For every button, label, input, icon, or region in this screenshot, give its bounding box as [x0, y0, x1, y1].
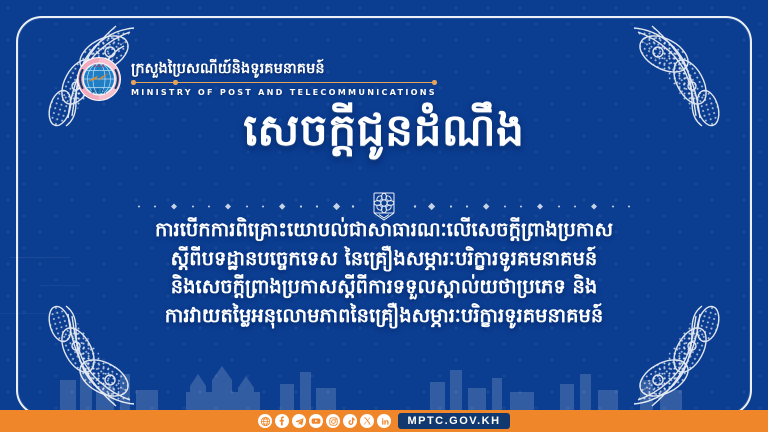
gold-rule-dot-mid — [173, 80, 178, 85]
divider-right-dots — [407, 201, 637, 212]
announcement-poster: ប.ប.ក P.T.C. ក្រសួងប្រៃសណីយ៍និងទូរគមនាគម… — [0, 0, 768, 432]
announcement-body: ការបើកការពិគ្រោះយោបល់ជាសាធារណៈលើសេចក្តីព… — [34, 216, 734, 330]
skyline-silhouette — [0, 340, 768, 410]
globe-icon[interactable] — [258, 414, 272, 428]
youtube-icon[interactable] — [309, 414, 323, 428]
linkedin-icon[interactable] — [377, 414, 391, 428]
body-line-2: ស្តីពីបទដ្ឋានបច្ចេកទេស នៃគ្រឿងសម្ភារៈបរិ… — [34, 245, 734, 274]
gold-rule-divider — [131, 79, 437, 86]
divider-left-dots — [131, 201, 361, 212]
poster-title: សេចក្តីជូនដំណឹង — [0, 104, 768, 158]
social-links — [258, 414, 398, 428]
gold-rule-line — [133, 82, 437, 83]
website-url-chip[interactable]: MPTC.GOV.KH — [398, 413, 509, 429]
tiktok-icon[interactable] — [343, 414, 357, 428]
gold-rule-dot-left — [131, 80, 136, 85]
ministry-name-khmer: ក្រសួងប្រៃសណីយ៍និងទូរគមនាគមន៍ — [131, 62, 437, 77]
x-twitter-icon[interactable] — [360, 414, 374, 428]
mptc-emblem-icon: ប.ប.ក P.T.C. — [76, 56, 122, 102]
facebook-icon[interactable] — [275, 414, 289, 428]
ministry-name-english: MINISTRY OF POST AND TELECOMMUNICATIONS — [131, 88, 437, 96]
instagram-icon[interactable] — [326, 414, 340, 428]
ministry-name-block: ក្រសួងប្រៃសណីយ៍និងទូរគមនាគមន៍ MINISTRY O… — [131, 62, 437, 96]
body-line-4: ការវាយតម្លៃអនុលោមភាពនៃគ្រឿងសម្ភារៈបរិក្ខ… — [34, 302, 734, 331]
body-line-3: និងសេចក្តីព្រាងប្រកាសស្តីពីការទទួលស្គាល់… — [34, 273, 734, 302]
footer-bar: MPTC.GOV.KH — [0, 410, 768, 432]
gold-rule-dot-right — [432, 80, 437, 85]
telegram-icon[interactable] — [292, 414, 306, 428]
emblem-bottom-text: P.T.C. — [91, 90, 107, 96]
body-line-1: ការបើកការពិគ្រោះយោបល់ជាសាធារណៈលើសេចក្តីព… — [34, 216, 734, 245]
emblem-top-text: ប.ប.ក — [94, 63, 105, 68]
ministry-header: ប.ប.ក P.T.C. ក្រសួងប្រៃសណីយ៍និងទូរគមនាគម… — [76, 56, 437, 102]
